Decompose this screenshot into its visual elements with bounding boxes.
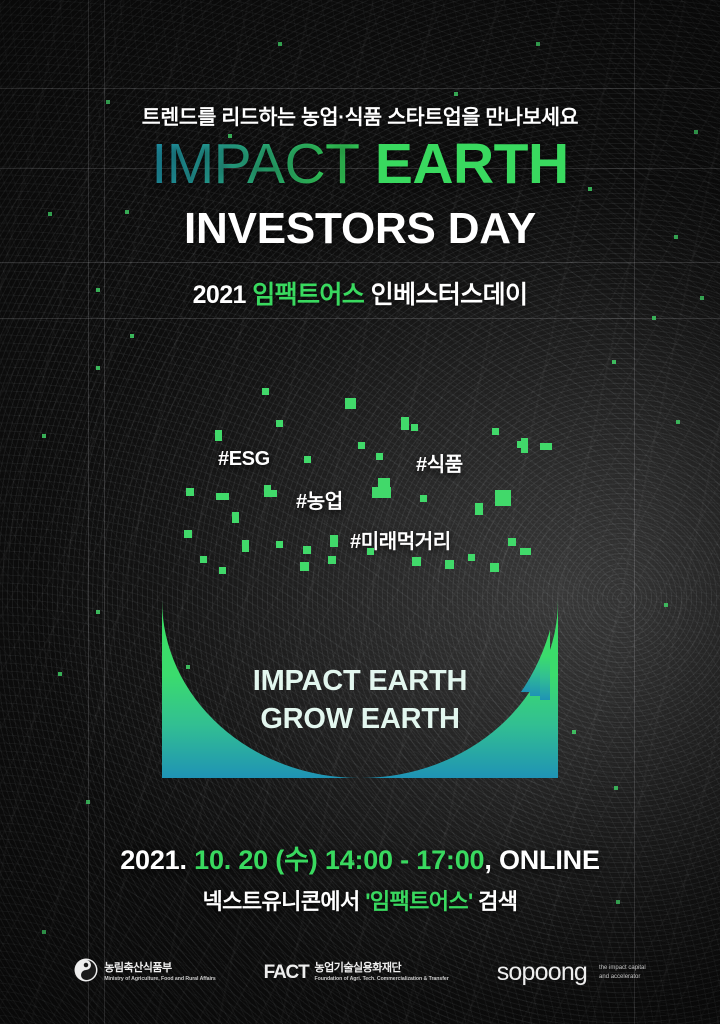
pixel-block bbox=[328, 556, 336, 564]
pixel-block bbox=[184, 530, 192, 538]
pixel-block bbox=[219, 567, 226, 574]
pixel-block bbox=[345, 398, 356, 409]
pixel-block bbox=[401, 417, 409, 430]
pixel-block bbox=[468, 554, 475, 561]
pixel-block bbox=[358, 442, 365, 449]
pixel-block bbox=[411, 424, 418, 431]
floating-pixel-cluster bbox=[0, 0, 720, 1024]
pixel-block bbox=[445, 560, 454, 569]
pixel-block bbox=[495, 490, 511, 506]
pixel-block bbox=[412, 557, 421, 566]
pixel-block bbox=[508, 538, 516, 546]
pixel-block bbox=[215, 430, 222, 441]
pixel-block bbox=[276, 420, 283, 427]
pixel-block bbox=[378, 478, 390, 489]
pixel-block bbox=[300, 562, 309, 571]
pixel-block bbox=[276, 541, 283, 548]
pixel-block bbox=[490, 563, 499, 572]
pixel-block bbox=[521, 438, 528, 453]
pixel-block bbox=[420, 495, 427, 502]
pixel-block bbox=[264, 485, 271, 497]
pixel-block bbox=[242, 540, 249, 552]
pixel-block bbox=[475, 503, 483, 515]
poster-root: 트렌드를 리드하는 농업·식품 스타트업을 만나보세요 IMPACT EARTH… bbox=[0, 0, 720, 1024]
pixel-block bbox=[216, 493, 229, 500]
pixel-block bbox=[186, 488, 194, 496]
pixel-block bbox=[376, 453, 383, 460]
pixel-block bbox=[492, 428, 499, 435]
pixel-block bbox=[303, 546, 311, 554]
pixel-block bbox=[330, 535, 338, 547]
pixel-block bbox=[520, 548, 531, 555]
pixel-block bbox=[540, 443, 552, 450]
pixel-block bbox=[304, 456, 311, 463]
pixel-block bbox=[200, 556, 207, 563]
pixel-block bbox=[232, 512, 239, 523]
pixel-block bbox=[262, 388, 269, 395]
pixel-block bbox=[367, 548, 374, 555]
